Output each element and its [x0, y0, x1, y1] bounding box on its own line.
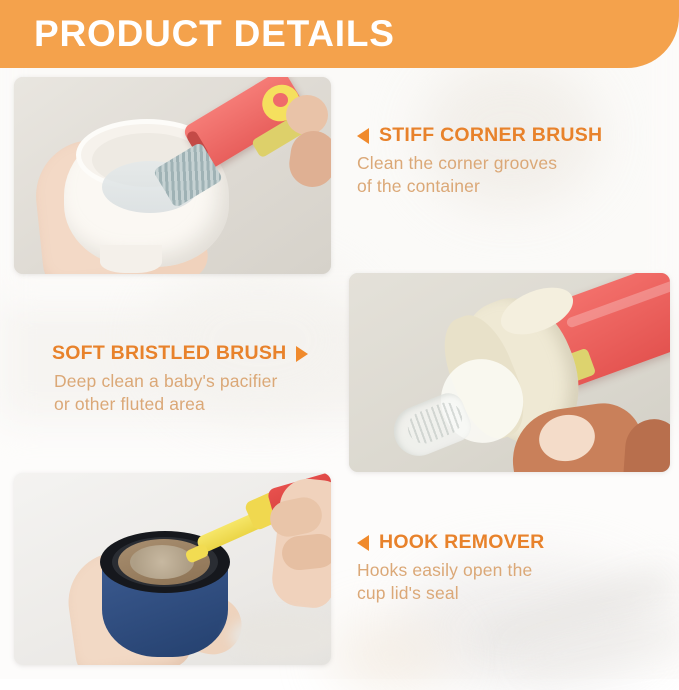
pacifier-photo: [349, 273, 670, 472]
feature-heading-row: SOFT BRISTLED BRUSH: [52, 342, 308, 365]
pacifier-scene: [349, 273, 670, 472]
feature-heading: SOFT BRISTLED BRUSH: [52, 342, 286, 365]
bg-warm-tint: [330, 620, 450, 690]
hook-photo: [14, 473, 331, 665]
feature-description: Hooks easily open the cup lid's seal: [357, 559, 545, 605]
triangle-right-icon: [296, 346, 308, 362]
triangle-left-icon: [357, 128, 369, 144]
header-banner: PRODUCT DETAILS: [0, 0, 679, 68]
feature-heading-row: HOOK REMOVER: [357, 531, 545, 554]
flower-cap-center: [273, 93, 288, 107]
hook-scene: [14, 473, 331, 665]
corner-brush-scene: [14, 77, 331, 274]
feature-heading-row: STIFF CORNER BRUSH: [357, 124, 602, 147]
feature-description-line-2: of the container: [357, 175, 602, 198]
lid-seal-mesh: [130, 545, 194, 579]
corner-brush-photo: [14, 77, 331, 274]
table-shadow: [230, 613, 331, 659]
cup-lid-base: [100, 245, 162, 273]
page-title: PRODUCT DETAILS: [34, 11, 395, 57]
feature-description-line-2: or other fluted area: [54, 393, 308, 416]
feature-stiff-corner-brush: STIFF CORNER BRUSH Clean the corner groo…: [357, 124, 602, 198]
feature-description-line-2: cup lid's seal: [357, 582, 545, 605]
triangle-left-icon: [357, 535, 369, 551]
feature-description: Clean the corner grooves of the containe…: [357, 152, 602, 198]
feature-heading: STIFF CORNER BRUSH: [379, 124, 602, 147]
feature-hook-remover: HOOK REMOVER Hooks easily open the cup l…: [357, 531, 545, 605]
finger-shape-a: [286, 95, 328, 135]
feature-description-line-1: Clean the corner grooves: [357, 152, 602, 175]
feature-description: Deep clean a baby's pacifier or other fl…: [54, 370, 308, 416]
feature-description-line-1: Deep clean a baby's pacifier: [54, 370, 308, 393]
feature-soft-bristled-brush: SOFT BRISTLED BRUSH Deep clean a baby's …: [52, 342, 308, 416]
feature-heading: HOOK REMOVER: [379, 531, 545, 554]
feature-description-line-1: Hooks easily open the: [357, 559, 545, 582]
